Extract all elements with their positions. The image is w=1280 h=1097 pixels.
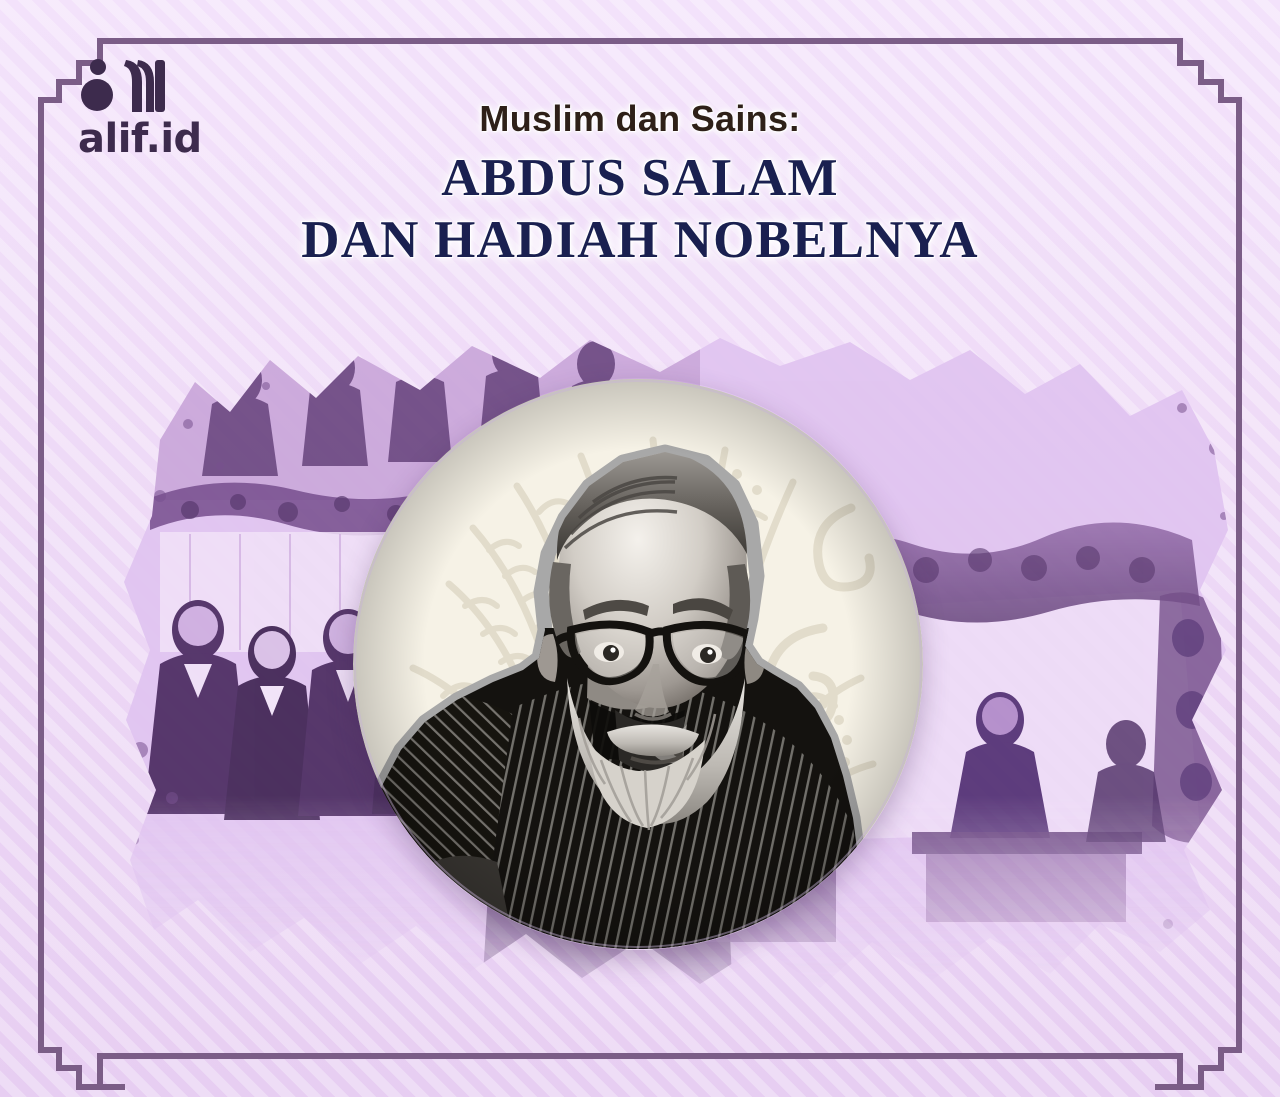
portrait-medallion bbox=[353, 378, 923, 950]
title-kicker: Muslim dan Sains: bbox=[0, 98, 1280, 139]
title-block: Muslim dan Sains: ABDUS SALAM DAN HADIAH… bbox=[0, 98, 1280, 270]
frame-corner-top-left bbox=[97, 38, 125, 44]
frame-corner-top-right bbox=[1155, 38, 1183, 44]
title-line-2: DAN HADIAH NOBELNYA bbox=[0, 211, 1280, 270]
frame-corner-bottom-right bbox=[1155, 1084, 1183, 1090]
poster-canvas: alif.id Muslim dan Sains: ABDUS SALAM DA… bbox=[0, 0, 1280, 1097]
frame-top-line bbox=[97, 38, 1183, 44]
title-line-1: ABDUS SALAM bbox=[0, 149, 1280, 208]
frame-bottom-line bbox=[97, 1053, 1183, 1059]
frame-corner-bottom-left bbox=[97, 1084, 125, 1090]
